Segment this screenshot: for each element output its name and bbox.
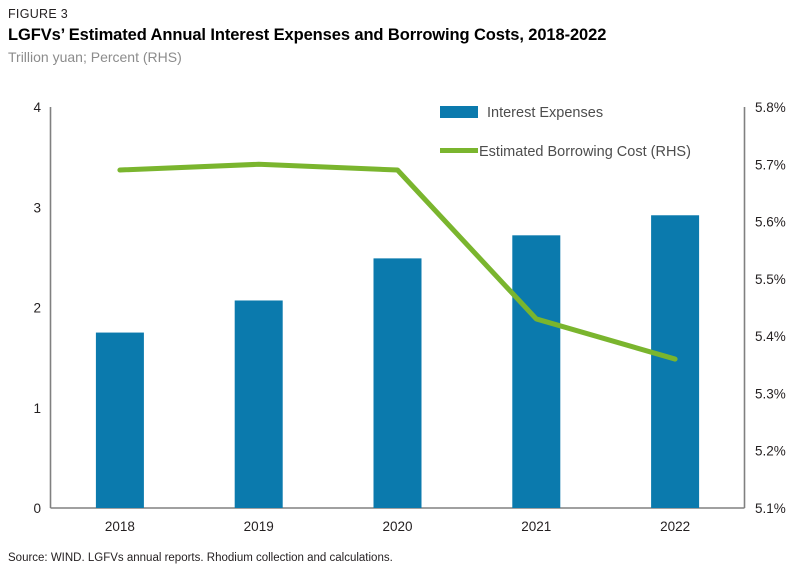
right-axis-tick-label: 5.5% (755, 272, 786, 287)
legend-label-borrowing-cost: Estimated Borrowing Cost (RHS) (479, 144, 691, 160)
bar-2021 (512, 235, 560, 508)
chart-svg: 01234 5.1%5.2%5.3%5.4%5.5%5.6%5.7%5.8% 2… (0, 95, 800, 535)
right-axis-tick-label: 5.7% (755, 157, 786, 172)
x-axis-tick-label: 2019 (244, 519, 274, 534)
x-axis-tick-label: 2018 (105, 519, 135, 534)
x-axis-tick-label: 2020 (382, 519, 412, 534)
bar-2020 (374, 258, 422, 508)
right-axis-tick-label: 5.8% (755, 100, 786, 115)
bar-2018 (96, 333, 144, 508)
left-axis-tick-label: 3 (33, 200, 41, 215)
left-axis-tick-label: 4 (33, 100, 41, 115)
legend-label-interest-expenses: Interest Expenses (487, 105, 603, 121)
bar-2019 (235, 300, 283, 508)
right-axis-tick-label: 5.2% (755, 444, 786, 459)
chart-header: FIGURE 3 LGFVs’ Estimated Annual Interes… (8, 6, 792, 67)
right-axis-tick-label: 5.6% (755, 215, 786, 230)
chart-subtitle: Trillion yuan; Percent (RHS) (8, 48, 792, 67)
legend-swatch-interest-expenses (440, 106, 478, 118)
right-axis-tick-label: 5.4% (755, 329, 786, 344)
figure-label: FIGURE 3 (8, 6, 792, 22)
chart-plot-area: 01234 5.1%5.2%5.3%5.4%5.5%5.6%5.7%5.8% 2… (0, 95, 800, 535)
left-axis-tick-label: 0 (33, 501, 41, 516)
source-note: Source: WIND. LGFVs annual reports. Rhod… (8, 551, 393, 566)
right-axis-ticks: 5.1%5.2%5.3%5.4%5.5%5.6%5.7%5.8% (755, 100, 786, 516)
right-axis-tick-label: 5.1% (755, 501, 786, 516)
chart-legend: Interest Expenses Estimated Borrowing Co… (440, 105, 691, 160)
left-axis-tick-label: 2 (33, 301, 41, 316)
x-axis-ticks: 20182019202020212022 (105, 519, 690, 534)
left-axis-tick-label: 1 (33, 401, 41, 416)
right-axis-tick-label: 5.3% (755, 386, 786, 401)
page-title: LGFVs’ Estimated Annual Interest Expense… (8, 24, 792, 46)
x-axis-tick-label: 2022 (660, 519, 690, 534)
bar-2022 (651, 215, 699, 508)
x-axis-tick-label: 2021 (521, 519, 551, 534)
left-axis-ticks: 01234 (33, 100, 41, 516)
bar-series-interest-expenses (96, 215, 699, 508)
